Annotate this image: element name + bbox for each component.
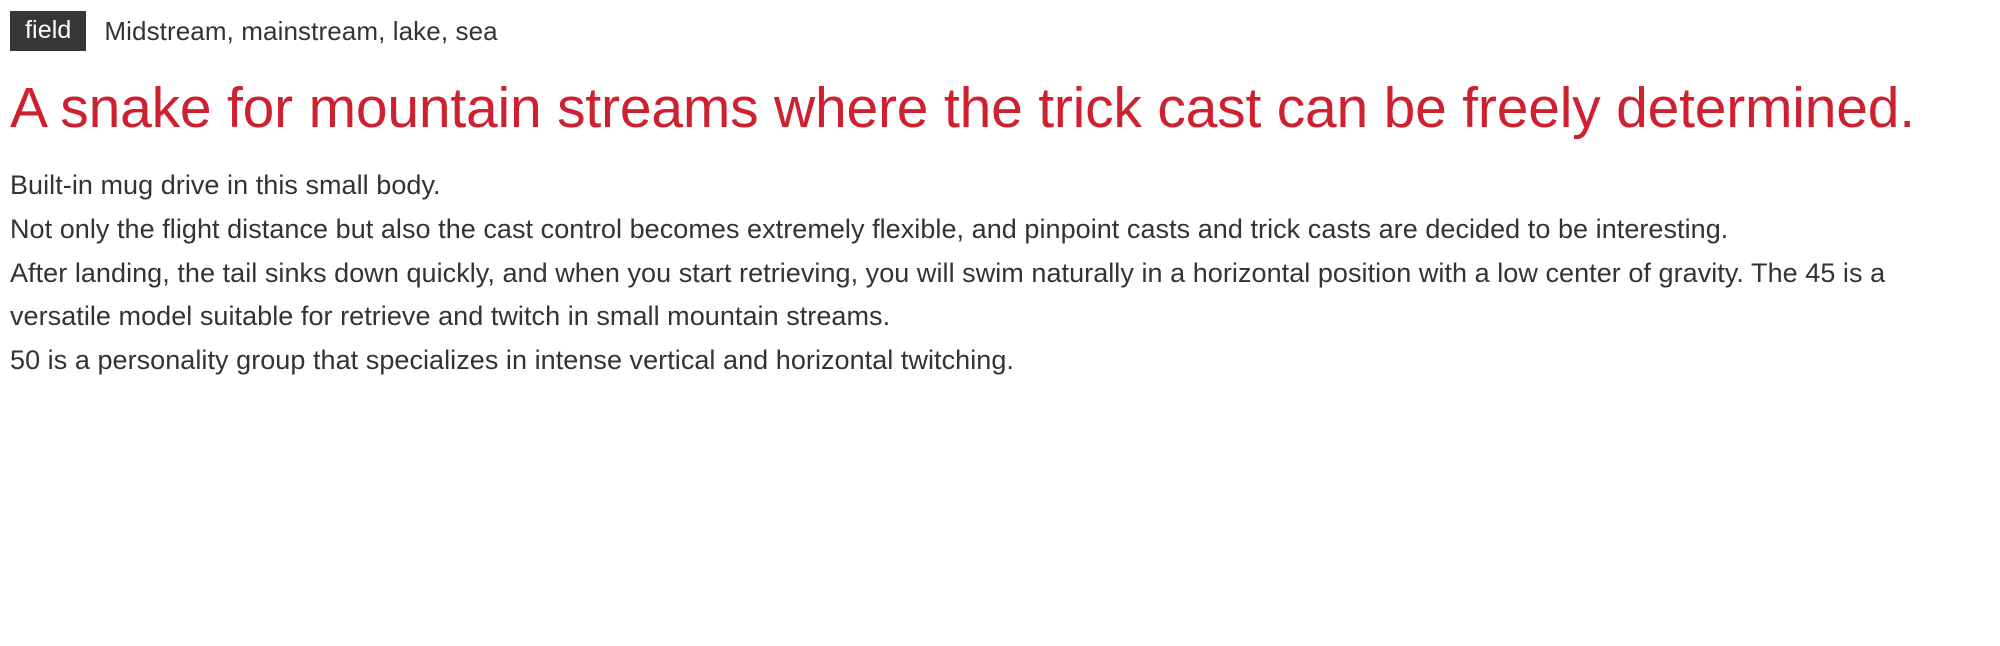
description-paragraph: Built-in mug drive in this small body. [10,164,1990,208]
description-body: Built-in mug drive in this small body. N… [10,164,1990,383]
category-row: field Midstream, mainstream, lake, sea [10,0,1990,50]
field-badge: field [10,11,86,51]
description-paragraph: Not only the flight distance but also th… [10,208,1990,252]
page-title: A snake for mountain streams where the t… [10,75,1970,142]
description-paragraph: After landing, the tail sinks down quick… [10,252,1990,339]
product-description-page: field Midstream, mainstream, lake, sea A… [0,0,2000,646]
description-paragraph: 50 is a personality group that specializ… [10,339,1990,383]
category-value: Midstream, mainstream, lake, sea [104,18,497,44]
